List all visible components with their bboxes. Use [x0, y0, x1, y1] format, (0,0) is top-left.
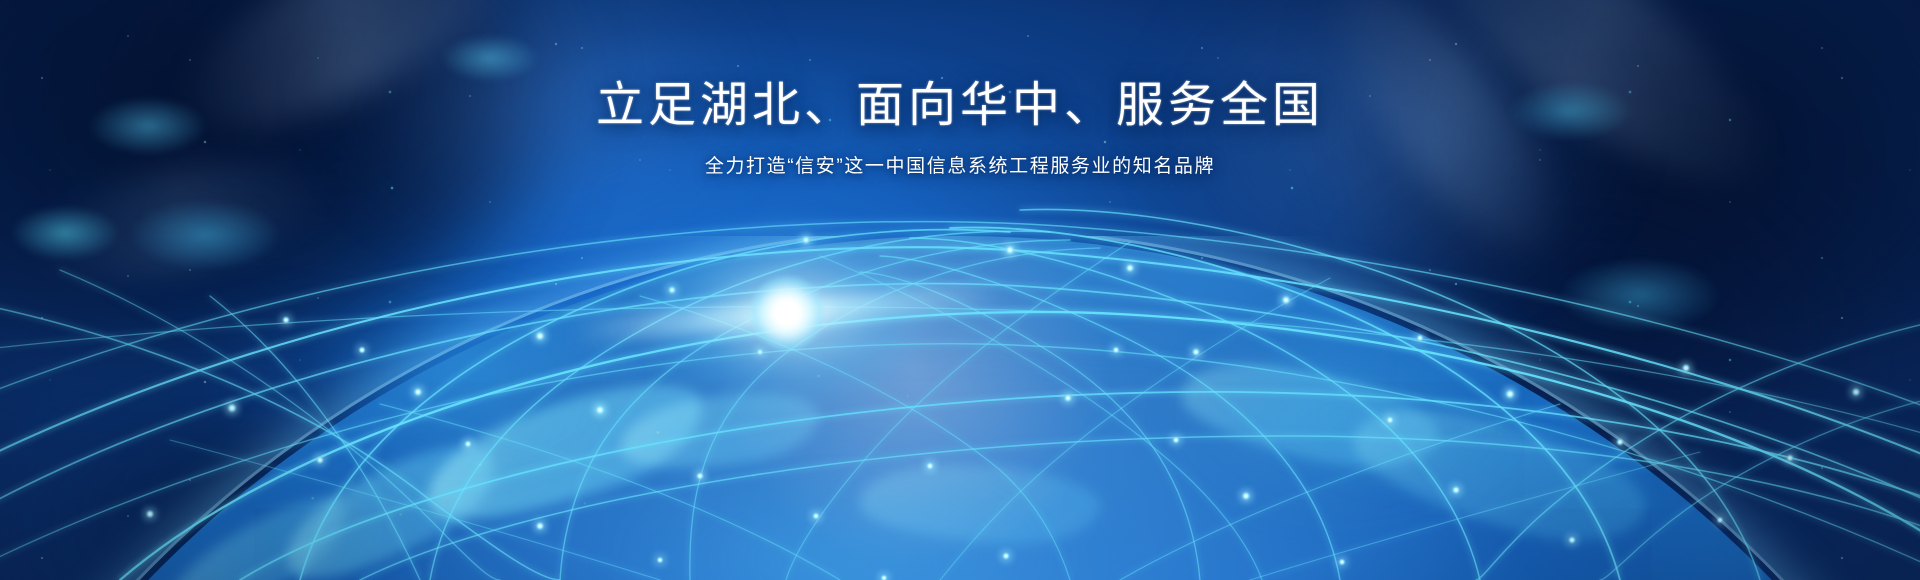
hero-banner: 立足湖北、面向华中、服务全国 全力打造“信安”这一中国信息系统工程服务业的知名品…: [0, 0, 1920, 580]
banner-subheadline: 全力打造“信安”这一中国信息系统工程服务业的知名品牌: [0, 153, 1920, 182]
banner-copy: 立足湖北、面向华中、服务全国 全力打造“信安”这一中国信息系统工程服务业的知名品…: [0, 78, 1920, 181]
network-node-group: [145, 235, 1860, 580]
arc-group-major: [0, 209, 1920, 580]
banner-headline: 立足湖北、面向华中、服务全国: [0, 78, 1920, 135]
